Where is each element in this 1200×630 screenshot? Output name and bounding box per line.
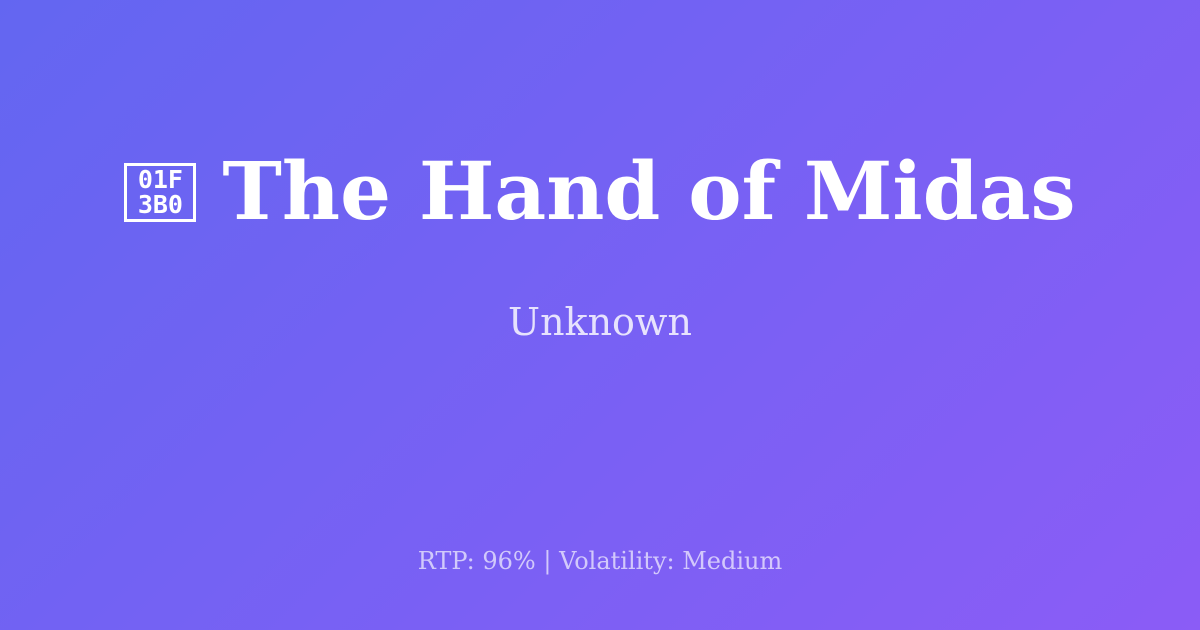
page-title: The Hand of Midas (222, 151, 1075, 231)
tofu-codepoint-top: 01F (138, 167, 183, 192)
card-subtitle: Unknown (508, 303, 692, 341)
tofu-codepoint-bottom: 3B0 (138, 192, 183, 217)
game-meta-line: RTP: 96% | Volatility: Medium (418, 549, 783, 573)
title-row: 01F 3B0 The Hand of Midas (124, 151, 1075, 231)
card-footer: RTP: 96% | Volatility: Medium (0, 492, 1200, 630)
card-hero: 01F 3B0 The Hand of Midas Unknown (0, 0, 1200, 492)
game-og-card: 01F 3B0 The Hand of Midas Unknown RTP: 9… (0, 0, 1200, 630)
slot-machine-icon: 01F 3B0 (124, 163, 196, 222)
